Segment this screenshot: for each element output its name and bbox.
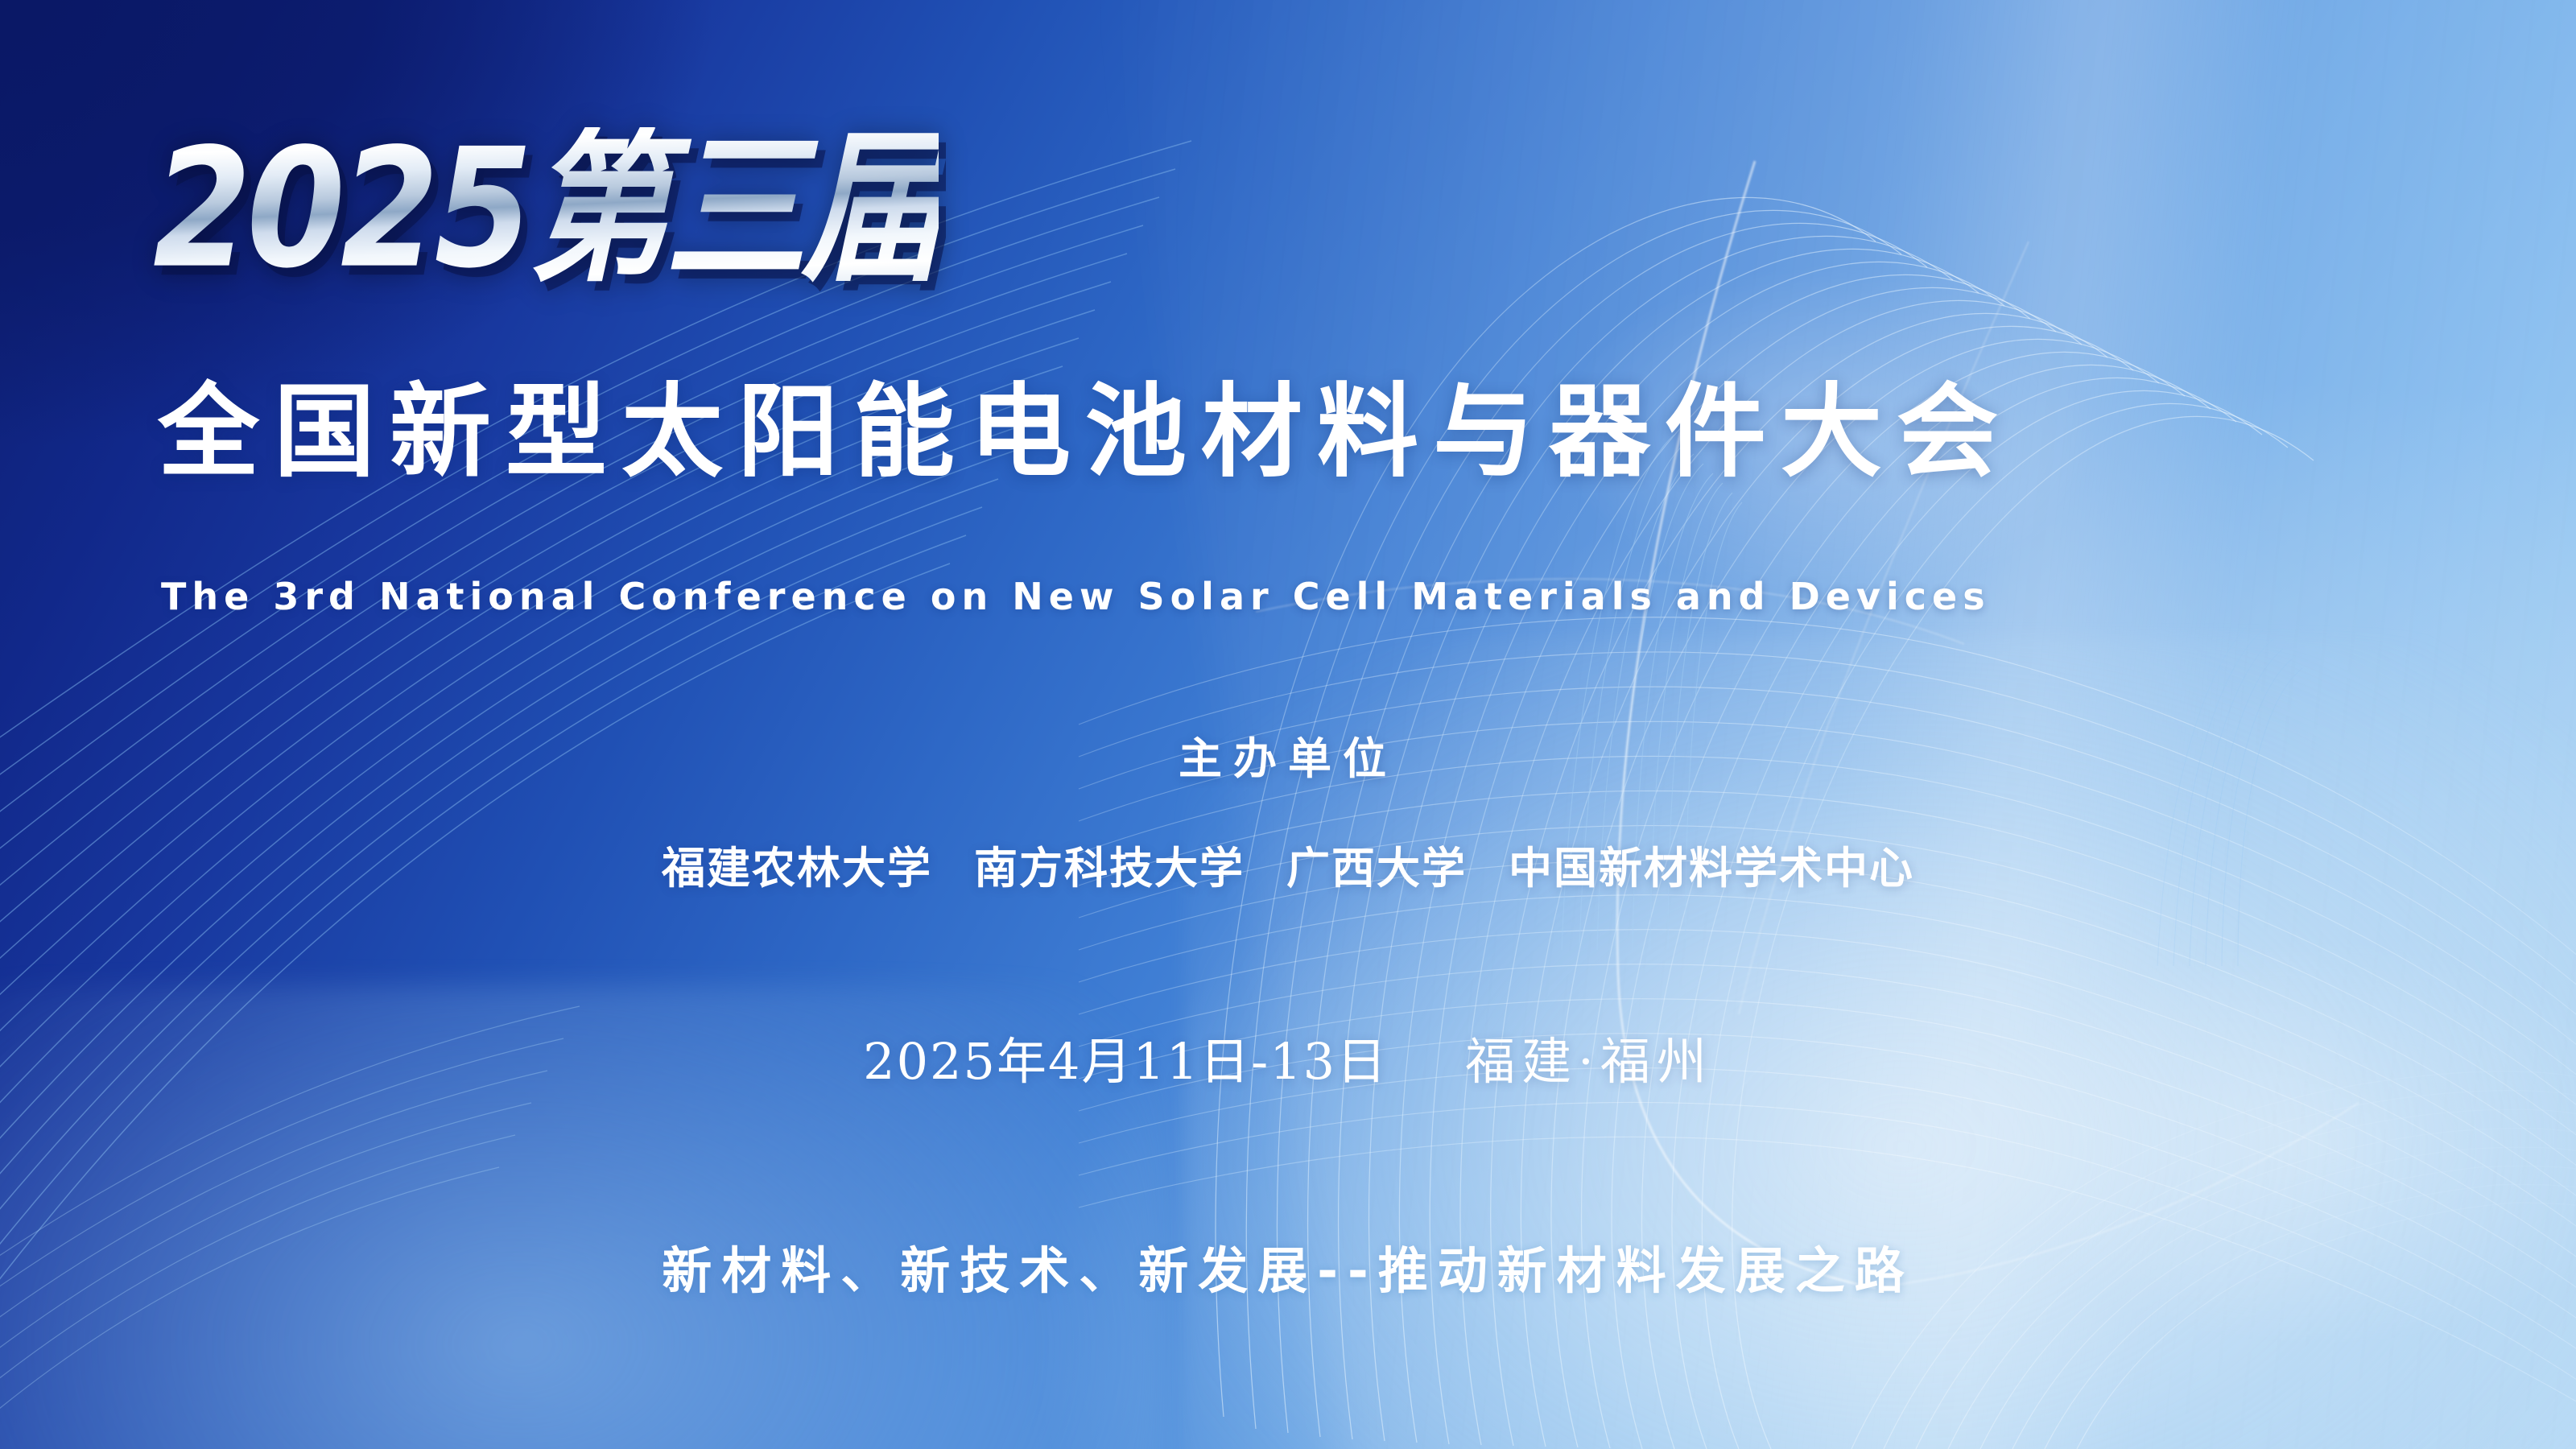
conference-location: 福建·福州	[1465, 1021, 1713, 1093]
organizer-item: 福建农林大学	[662, 832, 932, 896]
organizer-item: 南方科技大学	[974, 832, 1245, 896]
conference-english-subtitle: The 3rd National Conference on New Solar…	[161, 575, 1991, 618]
organizer-list: 福建农林大学 南方科技大学 广西大学 中国新材料学术中心	[0, 832, 2576, 896]
date-location-row: 2025年4月11日-13日 福建·福州	[0, 1021, 2576, 1093]
organizer-item: 广西大学	[1286, 832, 1467, 896]
organizer-item: 中国新材料学术中心	[1509, 832, 1914, 896]
conference-slogan: 新材料、新技术、新发展--推动新材料发展之路	[0, 1230, 2576, 1302]
organizer-section-heading: 主办单位	[0, 723, 2576, 786]
conference-banner: 2025第三届 全国新型太阳能电池材料与器件大会 The 3rd Nationa…	[0, 0, 2576, 1449]
conference-main-title: 全国新型太阳能电池材料与器件大会	[158, 375, 2013, 489]
year-edition-title: 2025第三届	[153, 127, 939, 291]
conference-date: 2025年4月11日-13日	[863, 1021, 1388, 1093]
banner-content: 2025第三届 全国新型太阳能电池材料与器件大会 The 3rd Nationa…	[0, 0, 2576, 1449]
